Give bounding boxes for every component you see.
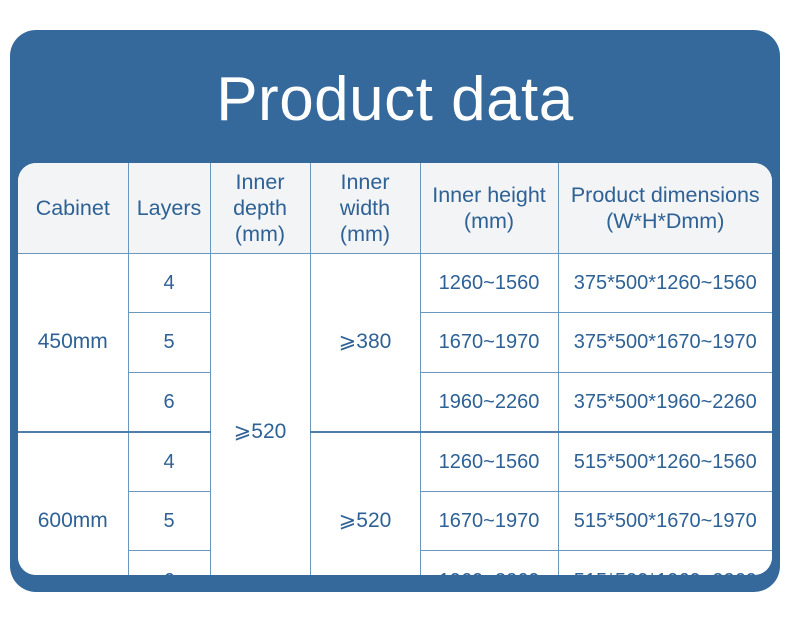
product-data-table: Cabinet Layers Inner depth (mm) Inner wi…	[18, 163, 772, 575]
cell-inner-height: 1960~2260	[420, 372, 558, 432]
cell-cabinet-600mm: 600mm	[18, 432, 128, 575]
cell-inner-depth-all: ⩾520	[210, 254, 310, 576]
column-header-cabinet-label: Cabinet	[36, 196, 110, 220]
column-header-inner-width-label: Inner width	[340, 170, 390, 220]
table-row: 600mm 4 ⩾520 1260~1560 515*500*1260~1560	[18, 432, 772, 492]
cell-inner-width-450mm: ⩾380	[310, 254, 420, 432]
column-header-cabinet: Cabinet	[18, 163, 128, 254]
column-header-inner-width-unit: (mm)	[314, 221, 417, 247]
column-header-product-dimensions: Product dimensions (W*H*Dmm)	[558, 163, 772, 254]
cell-inner-height: 1260~1560	[420, 432, 558, 492]
column-header-inner-width: Inner width (mm)	[310, 163, 420, 254]
header-row: Cabinet Layers Inner depth (mm) Inner wi…	[18, 163, 772, 254]
cell-inner-height: 1960~2260	[420, 551, 558, 575]
cell-layers: 5	[128, 492, 210, 551]
column-header-inner-depth: Inner depth (mm)	[210, 163, 310, 254]
table-row: 450mm 4 ⩾520 ⩾380 1260~1560 375*500*1260…	[18, 254, 772, 313]
product-data-page: Product data Cabinet Layers	[0, 0, 790, 626]
column-header-layers-label: Layers	[137, 196, 202, 220]
cell-inner-height: 1260~1560	[420, 254, 558, 313]
page-title: Product data	[10, 48, 780, 152]
column-header-inner-depth-label: Inner depth	[233, 170, 287, 220]
column-header-inner-height: Inner height (mm)	[420, 163, 558, 254]
cell-layers: 5	[128, 313, 210, 372]
cell-layers: 6	[128, 551, 210, 575]
product-data-table-card: Cabinet Layers Inner depth (mm) Inner wi…	[18, 163, 772, 575]
cell-inner-height: 1670~1970	[420, 492, 558, 551]
table-body: 450mm 4 ⩾520 ⩾380 1260~1560 375*500*1260…	[18, 254, 772, 576]
table-header: Cabinet Layers Inner depth (mm) Inner wi…	[18, 163, 772, 254]
cell-cabinet-450mm: 450mm	[18, 254, 128, 432]
column-header-product-dimensions-label: Product dimensions	[571, 183, 760, 207]
cell-product-dimensions: 375*500*1960~2260	[558, 372, 772, 432]
column-header-inner-height-unit: (mm)	[424, 208, 555, 234]
column-header-inner-depth-unit: (mm)	[214, 221, 307, 247]
column-header-product-dimensions-unit: (W*H*Dmm)	[562, 208, 770, 234]
cell-product-dimensions: 515*500*1960~2260	[558, 551, 772, 575]
cell-inner-width-600mm: ⩾520	[310, 432, 420, 575]
cell-layers: 4	[128, 432, 210, 492]
cell-product-dimensions: 515*500*1670~1970	[558, 492, 772, 551]
cell-inner-height: 1670~1970	[420, 313, 558, 372]
cell-layers: 6	[128, 372, 210, 432]
column-header-layers: Layers	[128, 163, 210, 254]
column-header-inner-height-label: Inner height	[432, 183, 546, 207]
cell-product-dimensions: 375*500*1670~1970	[558, 313, 772, 372]
cell-layers: 4	[128, 254, 210, 313]
cell-product-dimensions: 515*500*1260~1560	[558, 432, 772, 492]
cell-product-dimensions: 375*500*1260~1560	[558, 254, 772, 313]
